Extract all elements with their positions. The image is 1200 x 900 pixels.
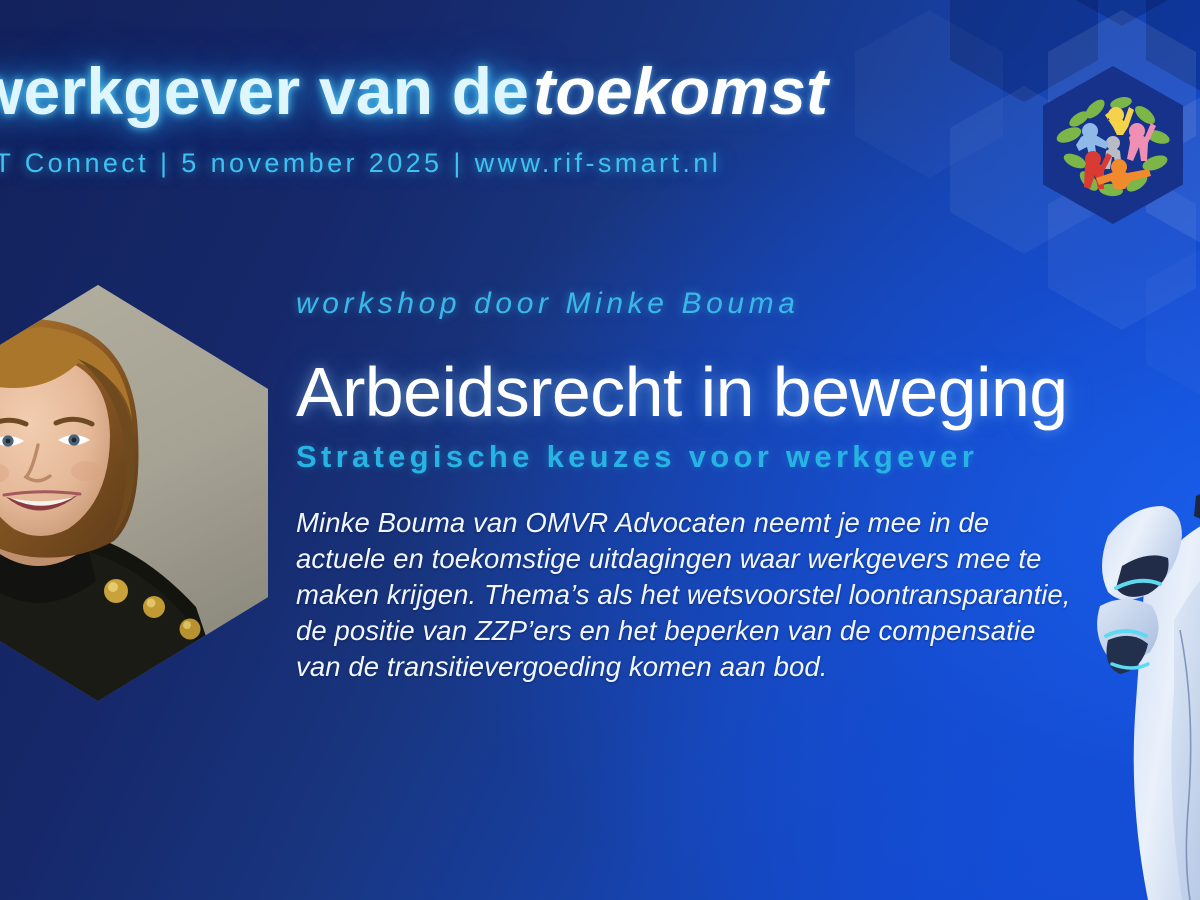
banner-subheadline: RT Connect | 5 november 2025 | www.rif-s…: [0, 148, 721, 179]
workshop-subtitle: Strategische keuzes voor werkgever: [296, 435, 996, 479]
header-band: werkgever van detoekomst RT Connect | 5 …: [0, 0, 1200, 225]
banner-headline: werkgever van detoekomst: [0, 53, 828, 129]
workshop-title: Arbeidsrecht in beweging: [296, 355, 1200, 429]
promo-poster: werkgever van detoekomst RT Connect | 5 …: [0, 0, 1200, 900]
workshop-eyebrow: workshop door Minke Bouma: [296, 286, 1200, 322]
headline-accent-text: toekomst: [533, 54, 828, 128]
main-content: workshop door Minke Bouma Arbeidsrecht i…: [296, 286, 1200, 685]
workshop-description: Minke Bouma van OMVR Advocaten neemt je …: [296, 505, 1086, 684]
headline-lead-text: werkgever van de: [0, 54, 529, 128]
speaker-portrait: [0, 285, 268, 701]
